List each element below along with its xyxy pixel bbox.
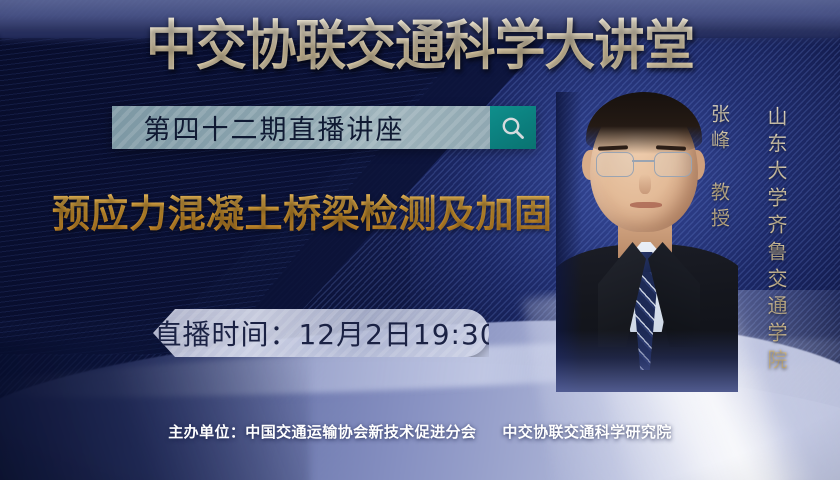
portrait-eyeglass-left bbox=[596, 152, 634, 177]
footer-prefix: 主办单位： bbox=[168, 423, 245, 441]
main-title: 中交协联交通科学大讲堂 bbox=[25, 16, 815, 76]
silk-shadow-left bbox=[0, 340, 310, 480]
footer-org-1: 中国交通运输协会新技术促进分会 bbox=[245, 423, 476, 441]
episode-bar[interactable]: 第四十二期直播讲座 bbox=[112, 106, 536, 149]
portrait-mouth bbox=[630, 202, 662, 208]
portrait-nose bbox=[639, 174, 651, 194]
search-icon-block[interactable] bbox=[490, 106, 536, 149]
live-time-pill: 直播时间：12月2日19:30 bbox=[153, 309, 489, 357]
speaker-name-title: 张峰 教授 bbox=[706, 104, 733, 234]
footer-org-2: 中交协联交通科学研究院 bbox=[502, 423, 671, 441]
live-lecture-poster: 中交协联交通科学大讲堂 中交协联交通科学大讲堂 第四十二期直播讲座 预应力混凝土… bbox=[0, 0, 840, 480]
footer-organizers: 主办单位：中国交通运输协会新技术促进分会中交协联交通科学研究院 bbox=[0, 421, 840, 442]
portrait-eyeglass-bridge bbox=[632, 160, 654, 162]
portrait-hair bbox=[586, 92, 702, 154]
topic-title: 预应力混凝土桥梁检测及加固 bbox=[52, 190, 572, 238]
episode-label: 第四十二期直播讲座 bbox=[144, 108, 459, 147]
search-icon bbox=[500, 115, 526, 141]
episode-bar-body: 第四十二期直播讲座 bbox=[112, 106, 490, 149]
live-time-text: 直播时间：12月2日19:30 bbox=[143, 313, 498, 353]
speaker-institution: 山东大学齐鲁交通学院 bbox=[762, 106, 791, 376]
portrait-bottom-fade bbox=[556, 330, 738, 392]
portrait-eyeglass-right bbox=[654, 152, 692, 177]
